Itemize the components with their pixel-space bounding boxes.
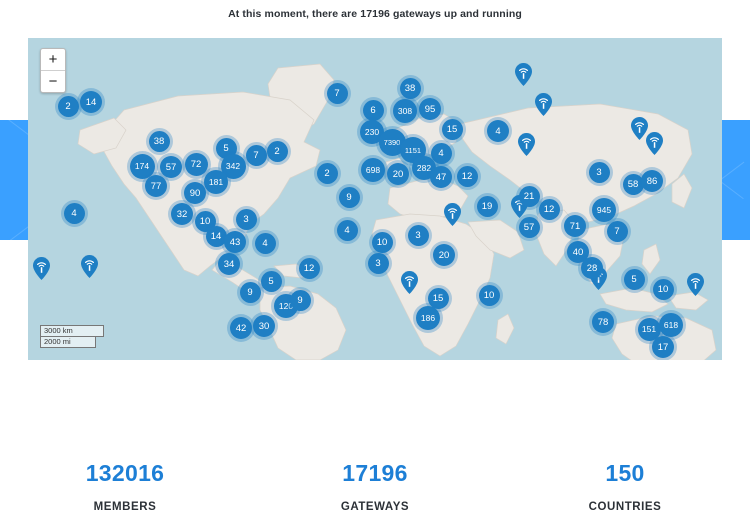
map-cluster-marker[interactable]: 7	[327, 83, 348, 104]
map-cluster-marker[interactable]: 618	[659, 313, 683, 337]
map-cluster-marker[interactable]: 20	[433, 244, 455, 266]
map-cluster-marker[interactable]: 6	[363, 100, 384, 121]
map-cluster-marker[interactable]: 10	[479, 285, 500, 306]
map-gateway-pin-icon[interactable]	[401, 271, 418, 294]
map-cluster-marker[interactable]: 32	[171, 203, 193, 225]
map-cluster-marker[interactable]: 77	[145, 175, 167, 197]
map-cluster-marker[interactable]: 12	[457, 166, 478, 187]
map-gateway-pin-icon[interactable]	[81, 255, 98, 278]
scale-km-label: 3000 km	[40, 325, 104, 337]
stat-label: GATEWAYS	[341, 501, 409, 513]
map-cluster-marker[interactable]: 9	[339, 187, 360, 208]
stats-row: 132016MEMBERS17196GATEWAYS150COUNTRIES	[0, 440, 750, 521]
map-cluster-marker[interactable]: 42	[230, 317, 252, 339]
zoom-in-button[interactable]: +	[41, 49, 65, 71]
map-landmasses	[28, 38, 722, 360]
map-cluster-marker[interactable]: 43	[224, 231, 246, 253]
map-cluster-marker[interactable]: 38	[149, 131, 170, 152]
map-cluster-marker[interactable]: 34	[218, 253, 240, 275]
map-cluster-marker[interactable]: 5	[261, 271, 282, 292]
page-header: At this moment, there are 17196 gateways…	[0, 0, 750, 28]
stat-countries: 150COUNTRIES	[500, 440, 750, 521]
map-cluster-marker[interactable]: 2	[58, 96, 79, 117]
map-cluster-marker[interactable]: 4	[255, 233, 276, 254]
map-cluster-marker[interactable]: 47	[430, 166, 452, 188]
stat-members: 132016MEMBERS	[0, 440, 250, 521]
map-cluster-marker[interactable]: 3	[368, 253, 389, 274]
map-cluster-marker[interactable]: 58	[623, 174, 644, 195]
map-gateway-pin-icon[interactable]	[687, 273, 704, 296]
map-gateway-pin-icon[interactable]	[646, 132, 663, 155]
map-zoom-control[interactable]: + −	[40, 48, 66, 93]
map-cluster-marker[interactable]: 30	[253, 315, 275, 337]
map-cluster-marker[interactable]: 9	[240, 282, 261, 303]
map-cluster-marker[interactable]: 14	[80, 91, 102, 113]
map-cluster-marker[interactable]: 86	[641, 170, 663, 192]
map-gateway-pin-icon[interactable]	[515, 63, 532, 86]
map-cluster-marker[interactable]: 38	[400, 78, 421, 99]
map-cluster-marker[interactable]: 15	[442, 119, 463, 140]
map-cluster-marker[interactable]: 19	[477, 196, 498, 217]
map-cluster-marker[interactable]: 12	[299, 258, 320, 279]
map-gateway-pin-icon[interactable]	[33, 257, 50, 280]
map-cluster-marker[interactable]: 4	[64, 203, 85, 224]
map-cluster-marker[interactable]: 78	[592, 311, 614, 333]
map-cluster-marker[interactable]: 945	[592, 198, 616, 222]
map-cluster-marker[interactable]: 57	[160, 156, 182, 178]
map-scale-bar: 3000 km 2000 mi	[40, 325, 104, 348]
stat-label: COUNTRIES	[589, 501, 662, 513]
map-cluster-marker[interactable]: 7	[607, 221, 628, 242]
map-cluster-marker[interactable]: 71	[564, 215, 586, 237]
map-cluster-marker[interactable]: 4	[337, 220, 358, 241]
world-map[interactable]: + − 3000 km 2000 mi 21438572174577234277…	[28, 38, 722, 360]
stat-gateways: 17196GATEWAYS	[250, 440, 500, 521]
page-title: At this moment, there are 17196 gateways…	[228, 8, 522, 20]
scale-mi-label: 2000 mi	[40, 337, 96, 348]
map-cluster-marker[interactable]: 57	[519, 217, 540, 238]
map-cluster-marker[interactable]: 72	[185, 153, 208, 176]
map-cluster-marker[interactable]: 90	[184, 182, 206, 204]
map-gateway-pin-icon[interactable]	[535, 93, 552, 116]
stat-value: 132016	[86, 462, 165, 485]
map-gateway-pin-icon[interactable]	[518, 133, 535, 156]
map-gateway-pin-icon[interactable]	[444, 203, 461, 226]
map-cluster-marker[interactable]: 3	[589, 162, 610, 183]
map-cluster-marker[interactable]: 5	[624, 269, 645, 290]
zoom-out-button[interactable]: −	[41, 71, 65, 92]
map-cluster-marker[interactable]: 21	[519, 186, 540, 207]
map-cluster-marker[interactable]: 20	[387, 163, 409, 185]
map-cluster-marker[interactable]: 95	[419, 98, 441, 120]
stat-value: 150	[605, 462, 644, 485]
map-cluster-marker[interactable]: 308	[393, 99, 417, 123]
map-cluster-marker[interactable]: 12	[539, 199, 560, 220]
stat-label: MEMBERS	[94, 501, 157, 513]
map-cluster-marker[interactable]: 698	[361, 158, 385, 182]
map-cluster-marker[interactable]: 181	[204, 170, 228, 194]
map-cluster-marker[interactable]: 186	[416, 306, 440, 330]
map-cluster-marker[interactable]: 10	[372, 232, 393, 253]
stat-value: 17196	[342, 462, 407, 485]
map-cluster-marker[interactable]: 174	[130, 154, 155, 179]
map-cluster-marker[interactable]: 2	[317, 163, 338, 184]
map-cluster-marker[interactable]: 17	[652, 336, 674, 358]
map-cluster-marker[interactable]: 2	[267, 141, 288, 162]
map-cluster-marker[interactable]: 10	[653, 279, 674, 300]
map-cluster-marker[interactable]: 3	[236, 209, 257, 230]
map-cluster-marker[interactable]: 7	[246, 145, 267, 166]
map-cluster-marker[interactable]: 4	[487, 120, 509, 142]
map-cluster-marker[interactable]: 3	[408, 225, 429, 246]
map-cluster-marker[interactable]: 9	[290, 290, 311, 311]
map-cluster-marker[interactable]: 28	[581, 257, 603, 279]
